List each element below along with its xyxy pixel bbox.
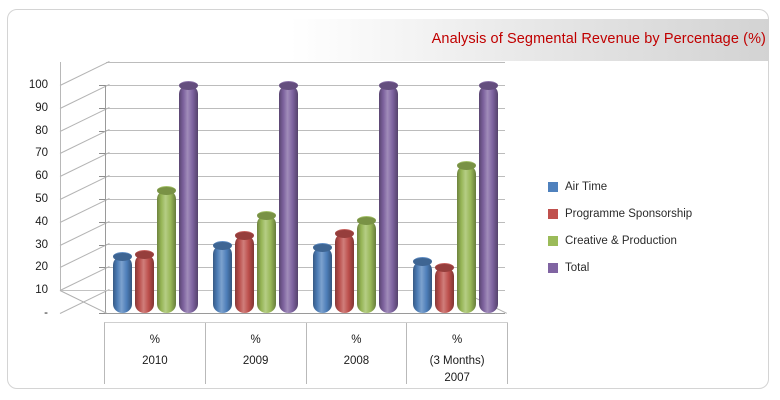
bar-body [435,267,454,313]
legend-item[interactable]: Programme Sponsorship [548,200,738,227]
bar-creative-production[interactable] [257,215,276,313]
legend-label: Air Time [565,181,607,193]
legend-item[interactable]: Air Time [548,173,738,200]
bar-groups [105,66,505,314]
y-axis-tick-label: 20 [4,261,48,273]
bar-body [257,215,276,313]
gridline-depth [60,84,110,109]
category-unit: % [206,332,306,349]
y-axis-tick-label: 30 [4,239,48,251]
plot-area: 100908070605040302010- [60,66,520,321]
category-period: 2009 [206,353,306,370]
chart-legend: Air TimeProgramme SponsorshipCreative & … [548,173,738,281]
category-label-table: %2010%2009%2008%(3 Months) 2007 [104,322,508,384]
category-cell: %2009 [206,323,307,384]
bar-top-cap [279,81,298,90]
bar-group [405,66,505,314]
y-axis-tick-label: 100 [4,79,48,91]
category-cell: %2010 [105,323,206,384]
bar-body [479,85,498,313]
bar-air-time[interactable] [113,256,132,313]
category-unit: % [307,332,407,349]
legend-swatch-icon [548,182,558,192]
bar-body [213,245,232,313]
y-axis-tick-label: 40 [4,216,48,228]
bar-air-time[interactable] [413,261,432,313]
category-cell: %2008 [307,323,408,384]
bar-total[interactable] [179,85,198,313]
bar-total[interactable] [279,85,298,313]
bar-total[interactable] [479,85,498,313]
bar-body [135,254,154,313]
bar-top-cap [379,81,398,90]
bar-creative-production[interactable] [457,165,476,313]
bar-group [105,66,205,314]
legend-item[interactable]: Creative & Production [548,227,738,254]
bar-top-cap [479,81,498,90]
category-period: 2010 [105,353,205,370]
category-unit: % [407,332,507,349]
bar-air-time[interactable] [313,247,332,313]
bar-programme-sponsorship[interactable] [135,254,154,313]
bar-body [457,165,476,313]
bar-body [113,256,132,313]
bar-group [305,66,405,314]
bar-body [335,233,354,313]
legend-swatch-icon [548,236,558,246]
gridline-depth [60,175,110,200]
gridline-depth [60,152,110,177]
bar-body [179,85,198,313]
legend-swatch-icon [548,209,558,219]
gridline [106,62,505,63]
bar-body [357,220,376,313]
bar-top-cap [135,250,154,259]
category-unit: % [105,332,205,349]
chart-title: Analysis of Segmental Revenue by Percent… [432,31,766,47]
y-axis-tick-label: 60 [4,170,48,182]
bar-body [235,235,254,313]
legend-label: Creative & Production [565,235,677,247]
bar-top-cap [113,252,132,261]
axis-y-back-edge [60,62,61,290]
y-axis-tick-label: 70 [4,147,48,159]
y-axis-tick-label: 50 [4,193,48,205]
bar-programme-sponsorship[interactable] [235,235,254,313]
category-period: (3 Months) 2007 [407,353,507,387]
gridline-depth [60,266,110,291]
gridline-depth [60,107,110,132]
bar-body [413,261,432,313]
category-cell: %(3 Months) 2007 [407,323,508,384]
y-axis-tick-label: - [4,307,48,319]
bar-top-cap [257,211,276,220]
bar-top-cap [357,216,376,225]
bar-top-cap [457,161,476,170]
bar-air-time[interactable] [213,245,232,313]
bar-body [279,85,298,313]
bar-programme-sponsorship[interactable] [435,267,454,313]
legend-item[interactable]: Total [548,254,738,281]
category-period: 2008 [307,353,407,370]
bar-body [379,85,398,313]
legend-label: Total [565,262,589,274]
chart-screenshot: Analysis of Segmental Revenue by Percent… [0,0,780,400]
bar-total[interactable] [379,85,398,313]
y-axis-tick-label: 10 [4,284,48,296]
y-axis-tick-label: 90 [4,102,48,114]
y-axis-tick-label: 80 [4,125,48,137]
bar-top-cap [413,257,432,266]
bar-top-cap [213,241,232,250]
bar-body [157,190,176,313]
bar-programme-sponsorship[interactable] [335,233,354,313]
bar-group [205,66,305,314]
gridline-depth [60,198,110,223]
gridline-depth [60,221,110,246]
bar-top-cap [313,243,332,252]
bar-top-cap [179,81,198,90]
legend-swatch-icon [548,263,558,273]
bar-top-cap [157,186,176,195]
bar-body [313,247,332,313]
gridline-depth [60,243,110,268]
bar-top-cap [335,229,354,238]
legend-label: Programme Sponsorship [565,208,692,220]
gridline-depth [60,129,110,154]
bar-creative-production[interactable] [357,220,376,313]
bar-creative-production[interactable] [157,190,176,313]
